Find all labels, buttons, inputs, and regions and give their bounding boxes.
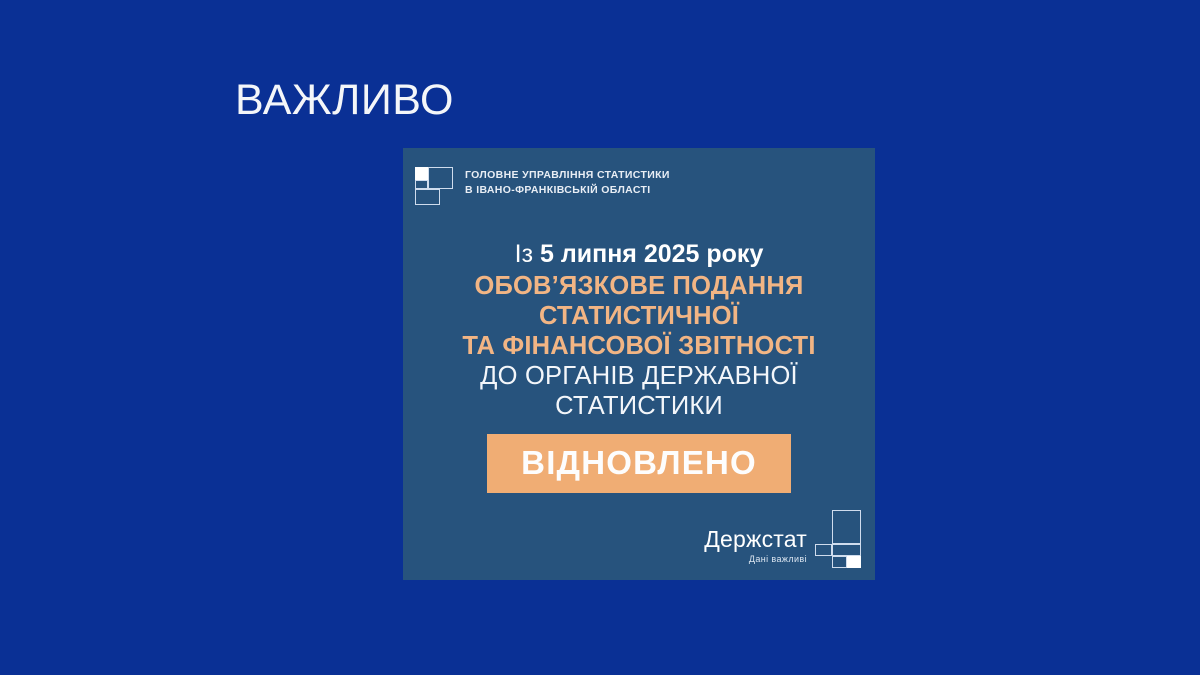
announcement-date-line: Із 5 липня 2025 року bbox=[419, 240, 859, 269]
derzhstat-brand: Держстат Дані важливі bbox=[704, 510, 861, 568]
page-title: ВАЖЛИВО bbox=[235, 78, 454, 123]
announcement-card: ГОЛОВНЕ УПРАВЛІННЯ СТАТИСТИКИ В ІВАНО-ФР… bbox=[403, 148, 875, 580]
derzhstat-tagline: Дані важливі bbox=[704, 555, 807, 564]
date-value: 5 липня 2025 року bbox=[540, 240, 763, 268]
slide-canvas: ВАЖЛИВО ГОЛОВНЕ УПРАВЛІННЯ СТАТИСТИКИ В … bbox=[0, 0, 1200, 675]
organization-name-line2: В ІВАНО-ФРАНКІВСЬКІЙ ОБЛАСТІ bbox=[465, 183, 670, 198]
status-badge-restored[interactable]: ВІДНОВЛЕНО bbox=[487, 434, 791, 493]
derzhstat-wordmark: Держстат Дані важливі bbox=[704, 528, 807, 568]
date-prefix: Із bbox=[515, 240, 540, 268]
derzhstat-logo-icon bbox=[815, 510, 861, 568]
status-banner-wrap: ВІДНОВЛЕНО bbox=[403, 434, 875, 493]
announcement-line-5: СТАТИСТИКИ bbox=[419, 392, 859, 422]
announcement-message: Із 5 липня 2025 року ОБОВ’ЯЗКОВЕ ПОДАННЯ… bbox=[403, 240, 875, 421]
announcement-line-1: ОБОВ’ЯЗКОВЕ ПОДАННЯ bbox=[419, 272, 859, 302]
gus-ivano-frankivsk-logo-icon bbox=[415, 167, 453, 205]
organization-name-line1: ГОЛОВНЕ УПРАВЛІННЯ СТАТИСТИКИ bbox=[465, 168, 670, 183]
announcement-line-3: ТА ФІНАНСОВОЇ ЗВІТНОСТІ bbox=[419, 332, 859, 362]
card-header: ГОЛОВНЕ УПРАВЛІННЯ СТАТИСТИКИ В ІВАНО-ФР… bbox=[403, 148, 875, 205]
announcement-line-4: ДО ОРГАНІВ ДЕРЖАВНОЇ bbox=[419, 362, 859, 392]
derzhstat-name: Держстат bbox=[704, 528, 807, 551]
announcement-line-2: СТАТИСТИЧНОЇ bbox=[419, 302, 859, 332]
organization-name: ГОЛОВНЕ УПРАВЛІННЯ СТАТИСТИКИ В ІВАНО-ФР… bbox=[465, 166, 670, 198]
